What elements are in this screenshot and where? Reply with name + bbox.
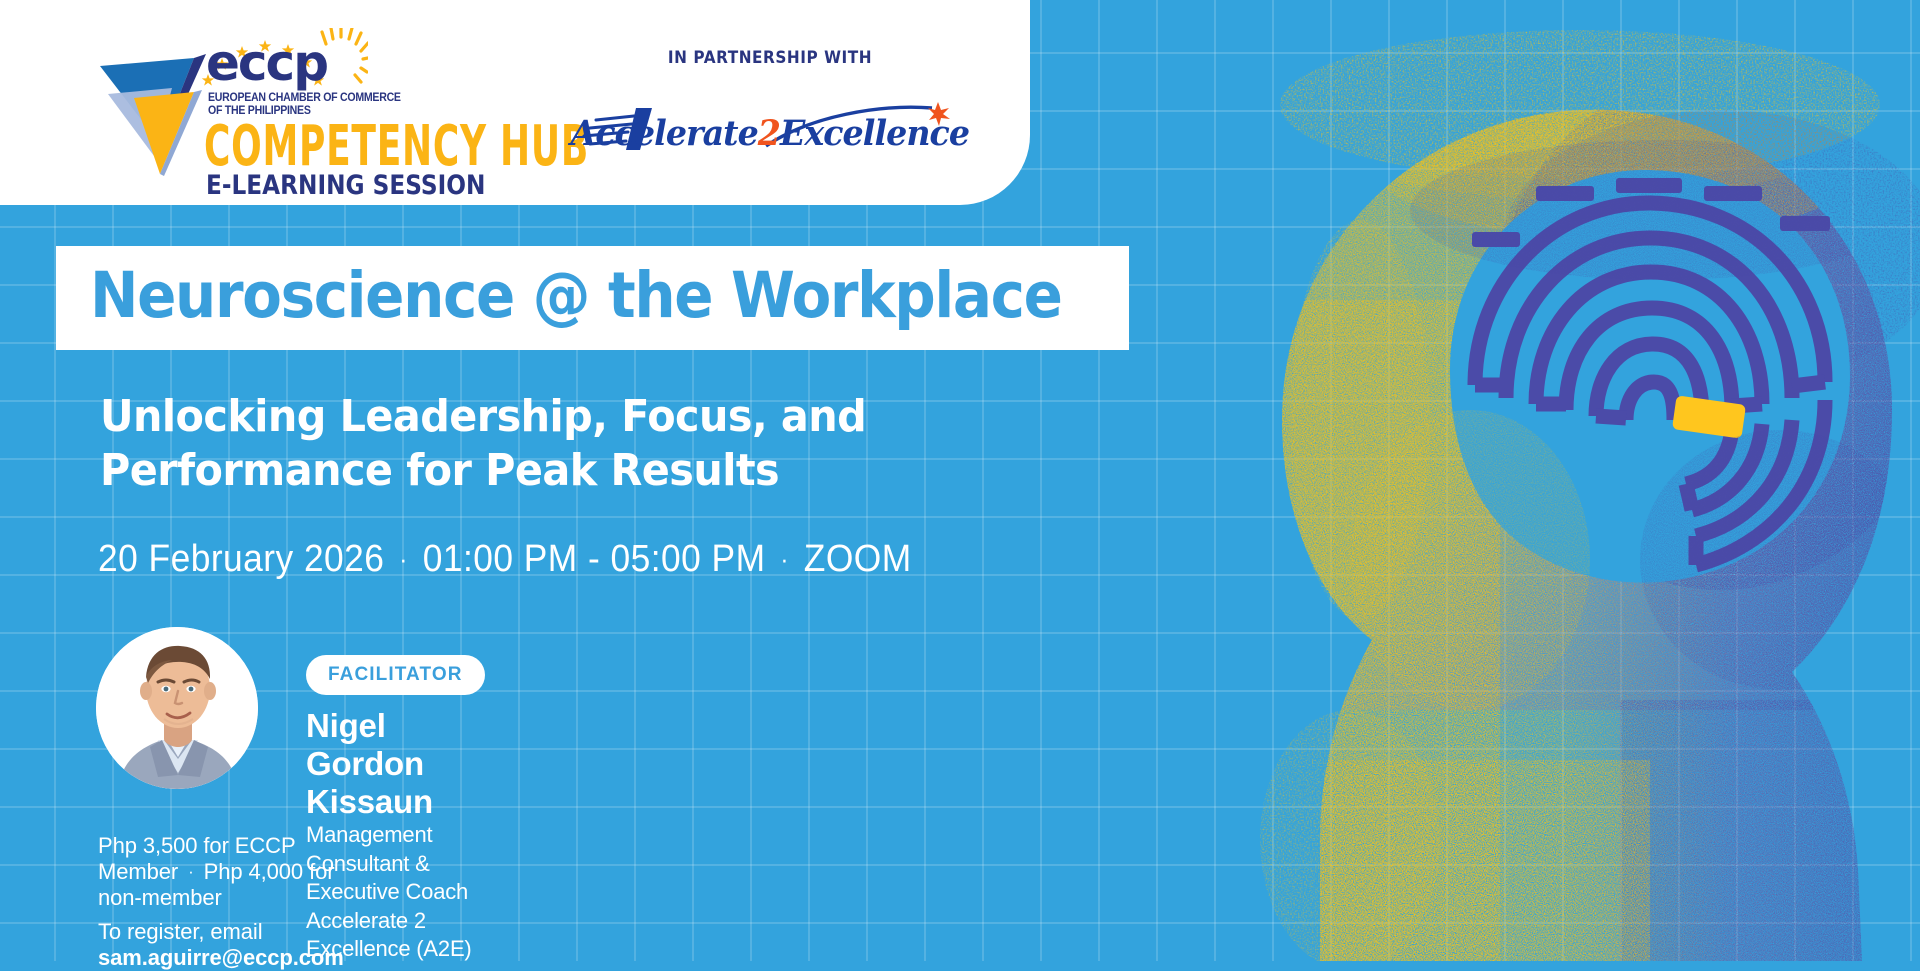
a2e-wordmark: Accelerate2Excellence xyxy=(571,113,970,154)
event-subtitle: Unlocking Leadership, Focus, and Perform… xyxy=(100,390,946,497)
footer-section: Php 3,500 for ECCP Member·Php 4,000 for … xyxy=(98,833,344,971)
eccp-wordmark: eccp xyxy=(206,38,327,88)
a2e-number: 2 xyxy=(758,113,780,154)
registration-line: To register, email sam.aguirre@eccp.com xyxy=(98,919,344,971)
event-title-box: Neuroscience @ the Workplace xyxy=(56,246,1129,350)
price-separator: · xyxy=(178,862,204,881)
event-subtitle-line1: Unlocking Leadership, Focus, and xyxy=(100,390,946,444)
a2e-part2: Excellence xyxy=(780,113,969,154)
register-prefix: To register, email xyxy=(98,919,263,944)
meta-separator-1: · xyxy=(384,544,422,574)
event-meta: 20 February 2026·01:00 PM - 05:00 PM·ZOO… xyxy=(98,538,912,581)
eccp-brand-text: eccp xyxy=(206,38,327,88)
event-date: 20 February 2026 xyxy=(98,538,384,580)
facilitator-avatar xyxy=(96,627,258,789)
partnership-label: IN PARTNERSHIP WITH xyxy=(581,48,959,68)
competency-hub-title: COMPETENCY HUB xyxy=(204,118,589,174)
session-type-label: E-LEARNING SESSION xyxy=(206,172,485,199)
a2e-part1: Accelerate xyxy=(571,113,758,154)
event-platform: ZOOM xyxy=(804,538,912,580)
meta-separator-2: · xyxy=(765,544,803,574)
event-time: 01:00 PM - 05:00 PM xyxy=(423,538,766,580)
event-title: Neuroscience @ the Workplace xyxy=(90,264,1015,328)
pricing-line: Php 3,500 for ECCP Member·Php 4,000 for … xyxy=(98,833,344,911)
event-subtitle-line2: Performance for Peak Results xyxy=(100,444,946,498)
eccp-logo: eccp EUROPEAN CHAMBER OF COMMERCE OF THE… xyxy=(98,22,598,182)
head-maze-illustration xyxy=(1020,0,1920,961)
facilitator-name: Nigel Gordon Kissaun xyxy=(306,707,485,821)
eccp-subtitle-line1: EUROPEAN CHAMBER OF COMMERCE xyxy=(208,92,401,105)
sun-rays-icon xyxy=(320,28,368,90)
header-panel: eccp EUROPEAN CHAMBER OF COMMERCE OF THE… xyxy=(0,0,1030,205)
partnership-block: IN PARTNERSHIP WITH Accelerate2Excellenc… xyxy=(560,48,980,164)
avatar-photo xyxy=(96,627,258,789)
accelerate2excellence-logo: Accelerate2Excellence xyxy=(560,102,980,164)
facilitator-badge: FACILITATOR xyxy=(306,655,485,695)
register-email[interactable]: sam.aguirre@eccp.com xyxy=(98,945,344,970)
